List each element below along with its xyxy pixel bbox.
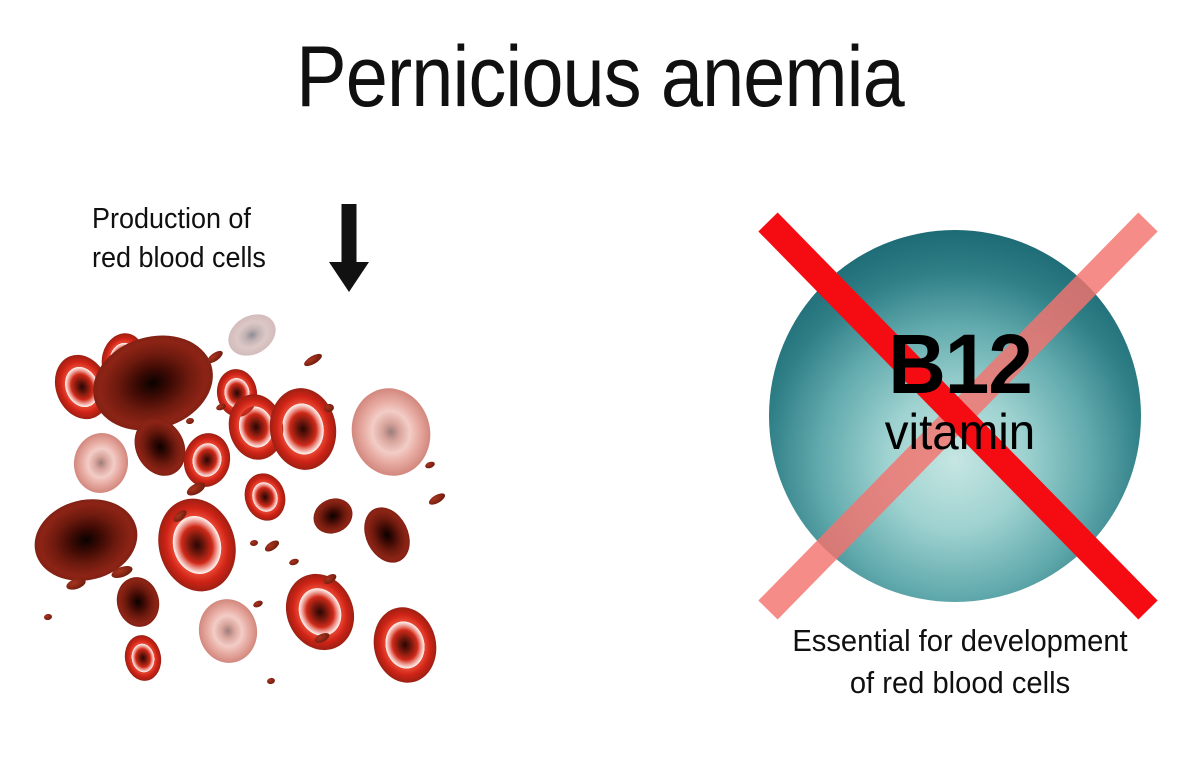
vitamin-b12-graphic: B12 vitamin (735, 195, 1185, 625)
blood-cell (179, 429, 235, 491)
blood-cell (367, 601, 443, 688)
cell-fragment (249, 539, 258, 547)
cell-fragment (186, 417, 195, 424)
cell-fragment (302, 352, 323, 369)
blood-cell (274, 563, 366, 661)
infographic-canvas: Pernicious anemia Production of red bloo… (0, 0, 1200, 768)
blood-cell (26, 489, 146, 592)
blood-cell (308, 492, 359, 540)
right-caption: Essential for development of red blood c… (734, 620, 1185, 704)
right-caption-line-2: of red blood cells (734, 662, 1185, 704)
cell-fragment (266, 677, 275, 685)
cell-fragment (288, 558, 299, 567)
cell-fragment (252, 599, 264, 609)
blood-cell (343, 380, 440, 484)
blood-cell (221, 306, 283, 364)
blood-cells-group (26, 306, 443, 689)
blood-cell (239, 468, 292, 526)
red-blood-cell-field (0, 0, 560, 768)
blood-cell (148, 489, 247, 600)
cell-fragment (427, 491, 447, 507)
right-caption-line-1: Essential for development (734, 620, 1185, 662)
cell-fragment (424, 460, 435, 469)
blood-cell (355, 500, 418, 571)
blood-cell (70, 430, 132, 497)
blood-cell (121, 632, 164, 684)
blood-cell (264, 383, 342, 474)
blood-cell (193, 594, 262, 668)
blood-cell (112, 573, 164, 631)
cell-fragment (263, 538, 281, 553)
cell-fragment (44, 613, 53, 620)
